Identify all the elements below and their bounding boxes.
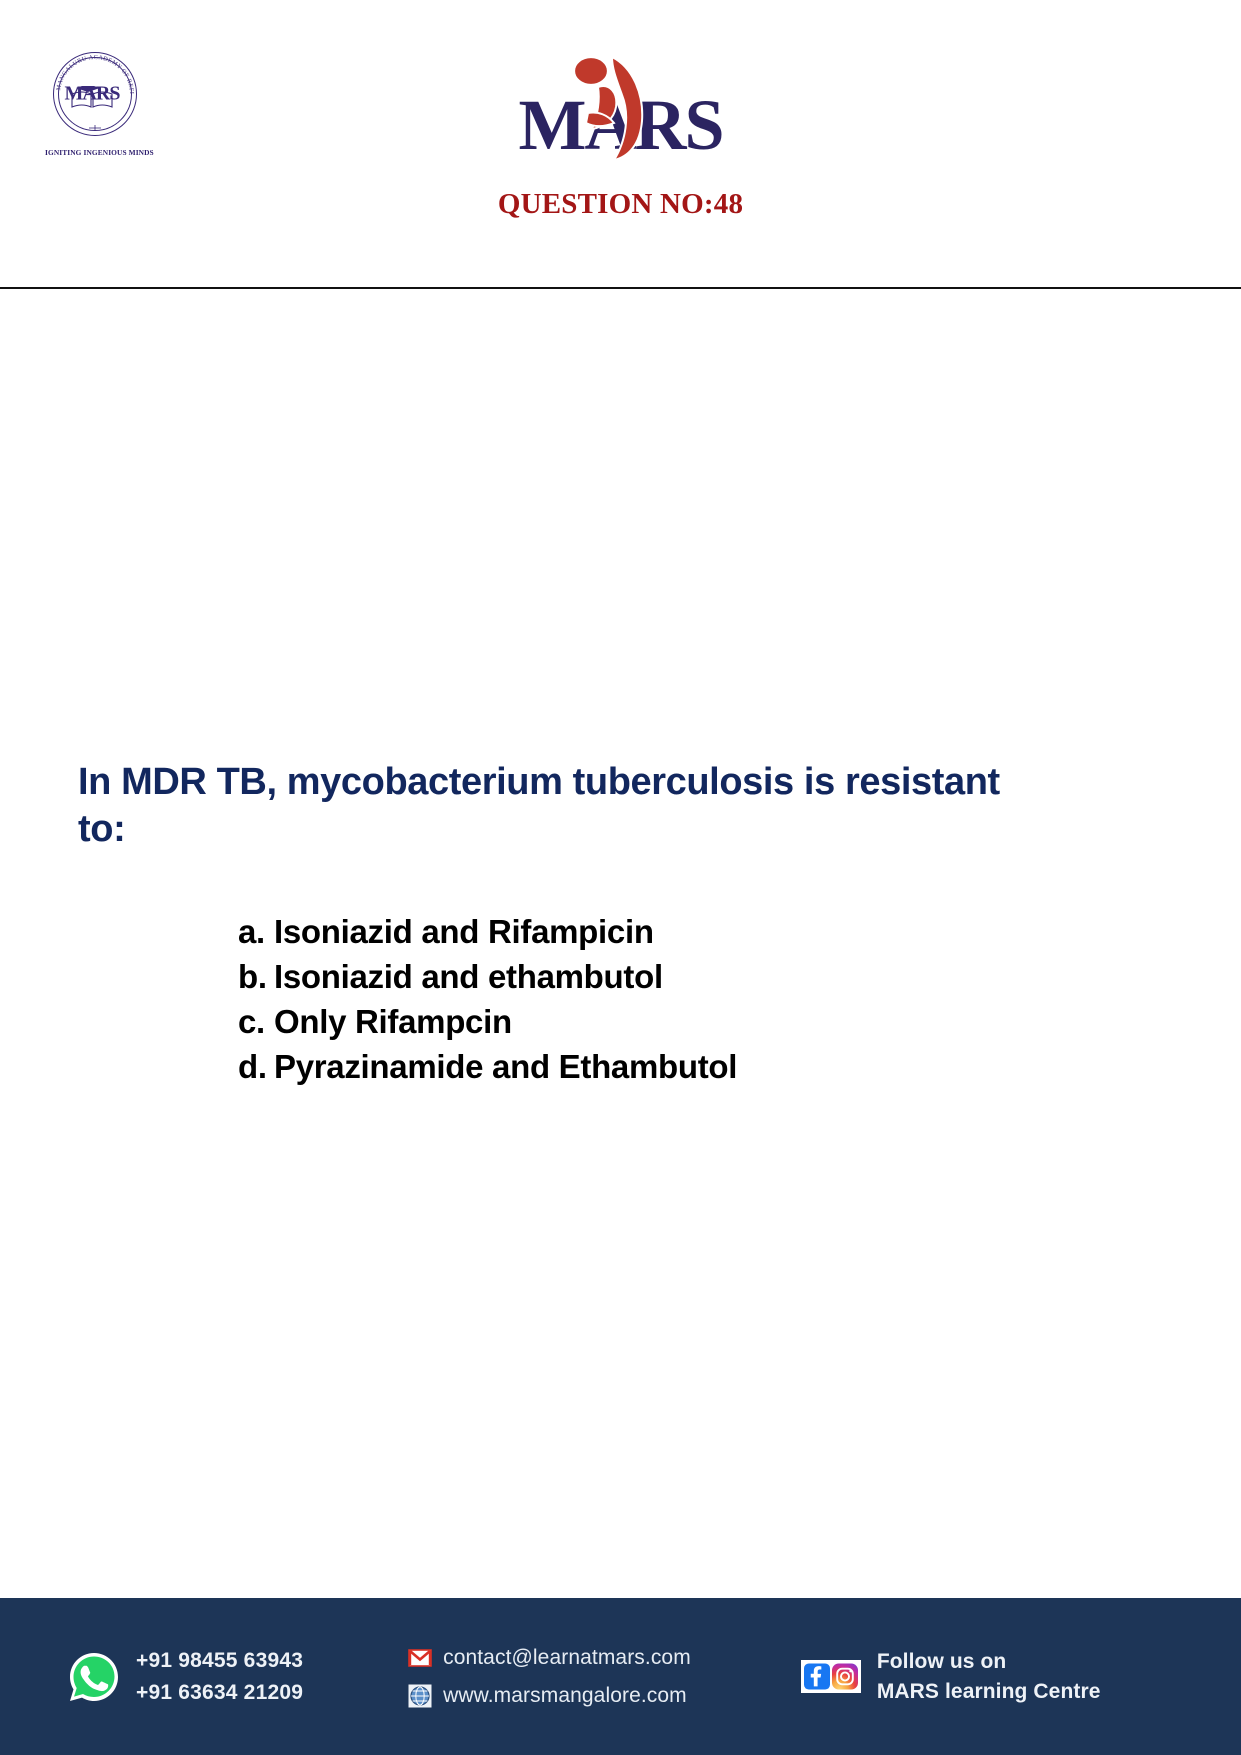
option-c-text: Only Rifampcin — [274, 999, 1058, 1044]
option-b-marker: b. — [238, 954, 274, 999]
answer-options-list: a. Isoniazid and Rifampicin b. Isoniazid… — [238, 909, 1058, 1089]
globe-icon — [408, 1684, 432, 1708]
question-number-title: QUESTION NO:48 — [0, 188, 1241, 221]
gmail-icon — [408, 1646, 432, 1670]
option-c[interactable]: c. Only Rifampcin — [238, 999, 1058, 1044]
footer-contact-block: contact@learnatmars.com www.marsmangalor… — [408, 1646, 691, 1708]
follow-line-1: Follow us on — [877, 1647, 1101, 1677]
social-icons-group — [801, 1660, 861, 1693]
question-page: MANGALURU ACADEMY OF REFINED STUDIES MAR… — [0, 0, 1241, 1755]
facebook-icon[interactable] — [804, 1663, 830, 1690]
footer-social-block: Follow us on MARS learning Centre — [801, 1647, 1101, 1707]
phone-number-2[interactable]: +91 63634 21209 — [136, 1677, 303, 1709]
option-b-text: Isoniazid and ethambutol — [274, 954, 1058, 999]
page-header: MANGALURU ACADEMY OF REFINED STUDIES MAR… — [0, 0, 1241, 289]
phone-number-1[interactable]: +91 98455 63943 — [136, 1645, 303, 1677]
whatsapp-icon[interactable] — [68, 1651, 120, 1703]
option-d[interactable]: d. Pyrazinamide and Ethambutol — [238, 1044, 1058, 1089]
question-text: In MDR TB, mycobacterium tuberculosis is… — [78, 759, 1048, 853]
instagram-icon[interactable] — [832, 1663, 858, 1690]
email-address: contact@learnatmars.com — [443, 1646, 691, 1670]
mars-running-figure-icon — [558, 53, 673, 161]
option-a[interactable]: a. Isoniazid and Rifampicin — [238, 909, 1058, 954]
option-d-marker: d. — [238, 1044, 274, 1089]
follow-line-2: MARS learning Centre — [877, 1677, 1101, 1707]
email-row[interactable]: contact@learnatmars.com — [408, 1646, 691, 1670]
phone-numbers: +91 98455 63943 +91 63634 21209 — [136, 1645, 303, 1709]
option-a-text: Isoniazid and Rifampicin — [274, 909, 1058, 954]
option-d-text: Pyrazinamide and Ethambutol — [274, 1044, 1058, 1089]
mars-brand-logo: MARS — [0, 52, 1241, 162]
page-content: In MDR TB, mycobacterium tuberculosis is… — [0, 289, 1241, 1598]
option-a-marker: a. — [238, 909, 274, 954]
follow-us-text: Follow us on MARS learning Centre — [877, 1647, 1101, 1707]
page-footer: +91 98455 63943 +91 63634 21209 contact@… — [0, 1598, 1241, 1755]
option-b[interactable]: b. Isoniazid and ethambutol — [238, 954, 1058, 999]
option-c-marker: c. — [238, 999, 274, 1044]
footer-phone-block: +91 98455 63943 +91 63634 21209 — [68, 1645, 303, 1709]
website-row[interactable]: www.marsmangalore.com — [408, 1684, 691, 1708]
website-url: www.marsmangalore.com — [443, 1684, 687, 1708]
